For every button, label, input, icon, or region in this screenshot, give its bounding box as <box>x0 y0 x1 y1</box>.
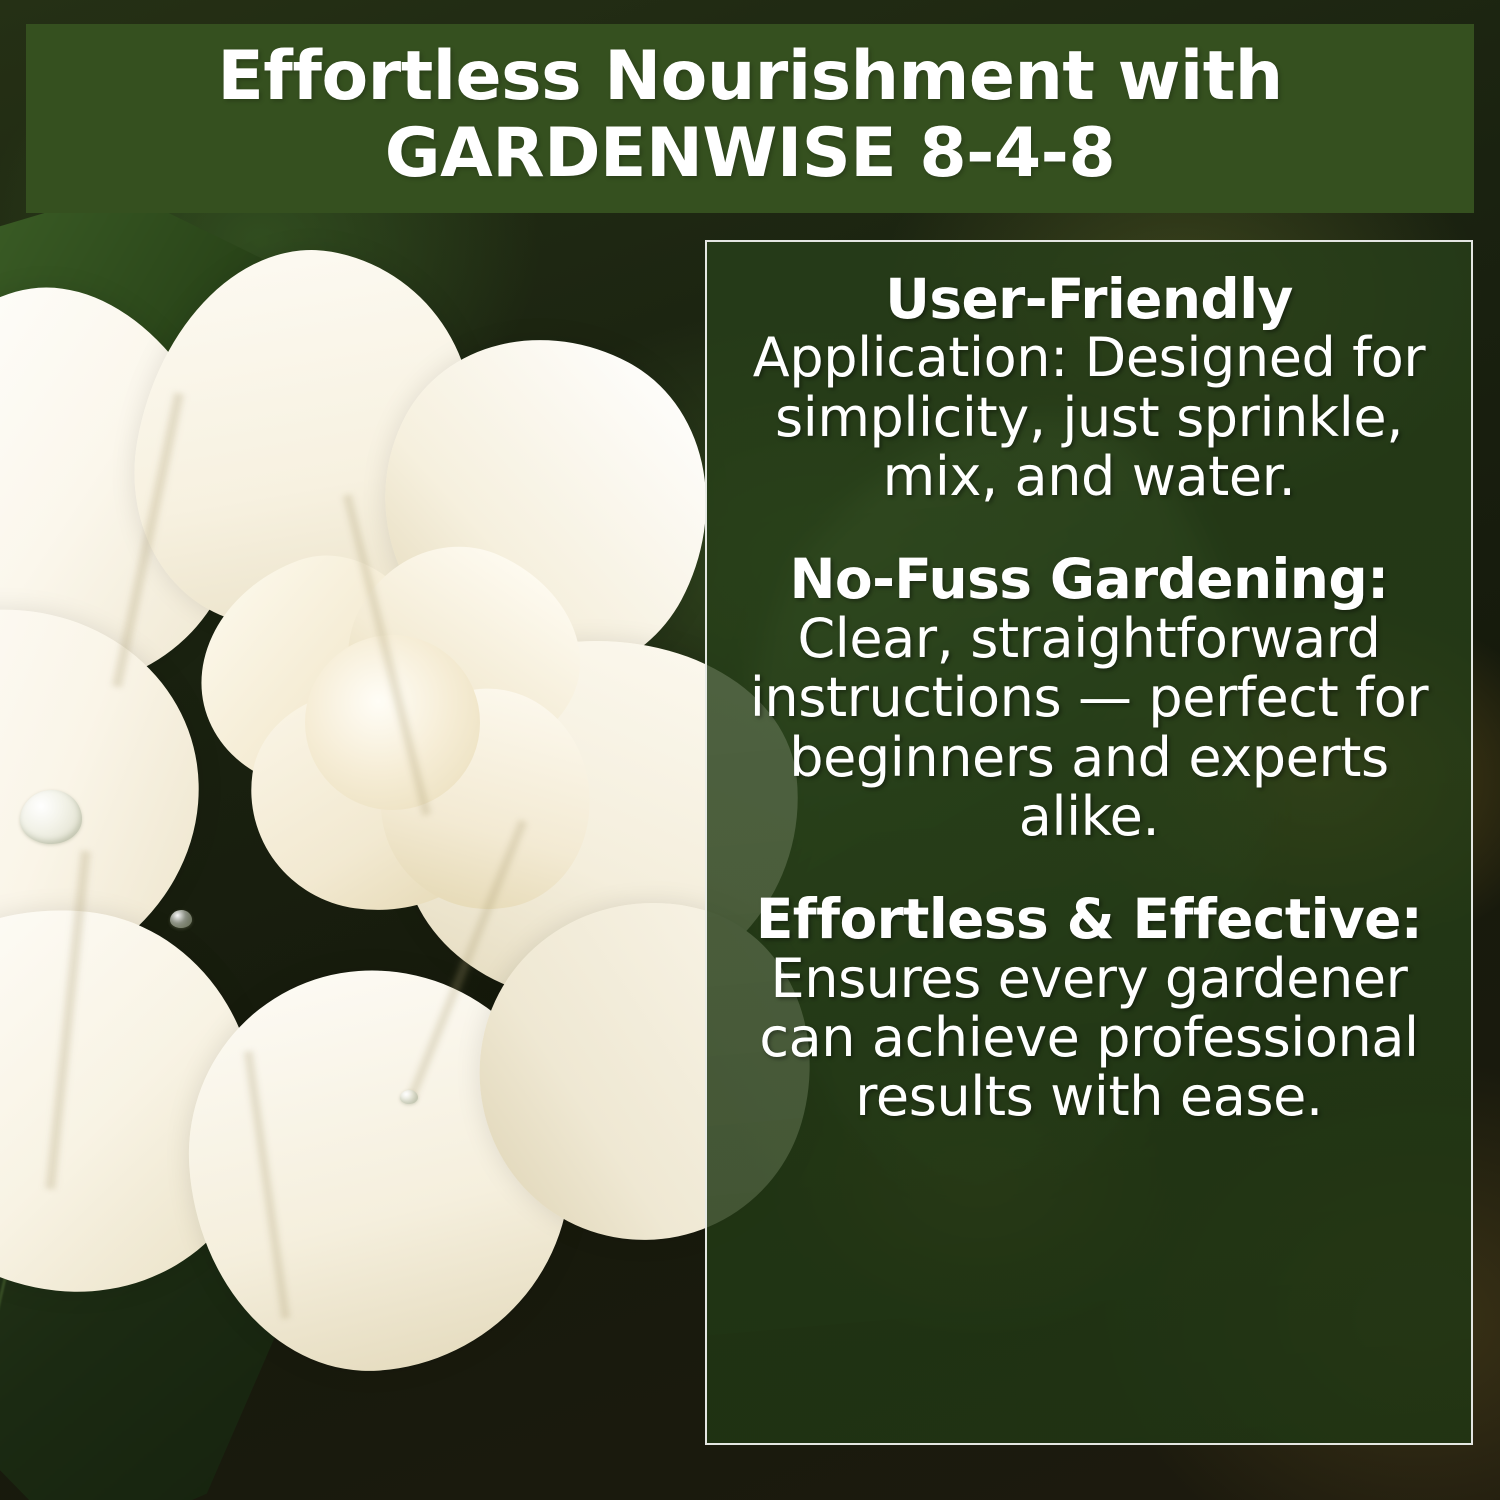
feature-text-panel: User-Friendly Application: Designed for … <box>705 240 1473 1445</box>
water-droplet <box>170 910 192 928</box>
water-droplet <box>400 1090 418 1104</box>
feature-block-no-fuss-gardening: No-Fuss Gardening: Clear, straightforwar… <box>729 550 1449 846</box>
header-banner: Effortless Nourishment with GARDENWISE 8… <box>26 24 1474 213</box>
feature-body: Application: Designed for simplicity, ju… <box>729 328 1449 506</box>
feature-heading: No-Fuss Gardening: <box>729 550 1449 608</box>
feature-body: Ensures every gardener can achieve profe… <box>729 949 1449 1127</box>
feature-block-effortless-effective: Effortless & Effective: Ensures every ga… <box>729 890 1449 1126</box>
promotional-poster: Effortless Nourishment with GARDENWISE 8… <box>0 0 1500 1500</box>
feature-heading: Effortless & Effective: <box>729 890 1449 948</box>
feature-body: Clear, straightforward instructions — pe… <box>729 609 1449 847</box>
feature-heading: User-Friendly <box>729 270 1449 328</box>
page-title: Effortless Nourishment with GARDENWISE 8… <box>217 39 1282 191</box>
water-droplet <box>20 790 82 844</box>
feature-block-user-friendly: User-Friendly Application: Designed for … <box>729 270 1449 506</box>
